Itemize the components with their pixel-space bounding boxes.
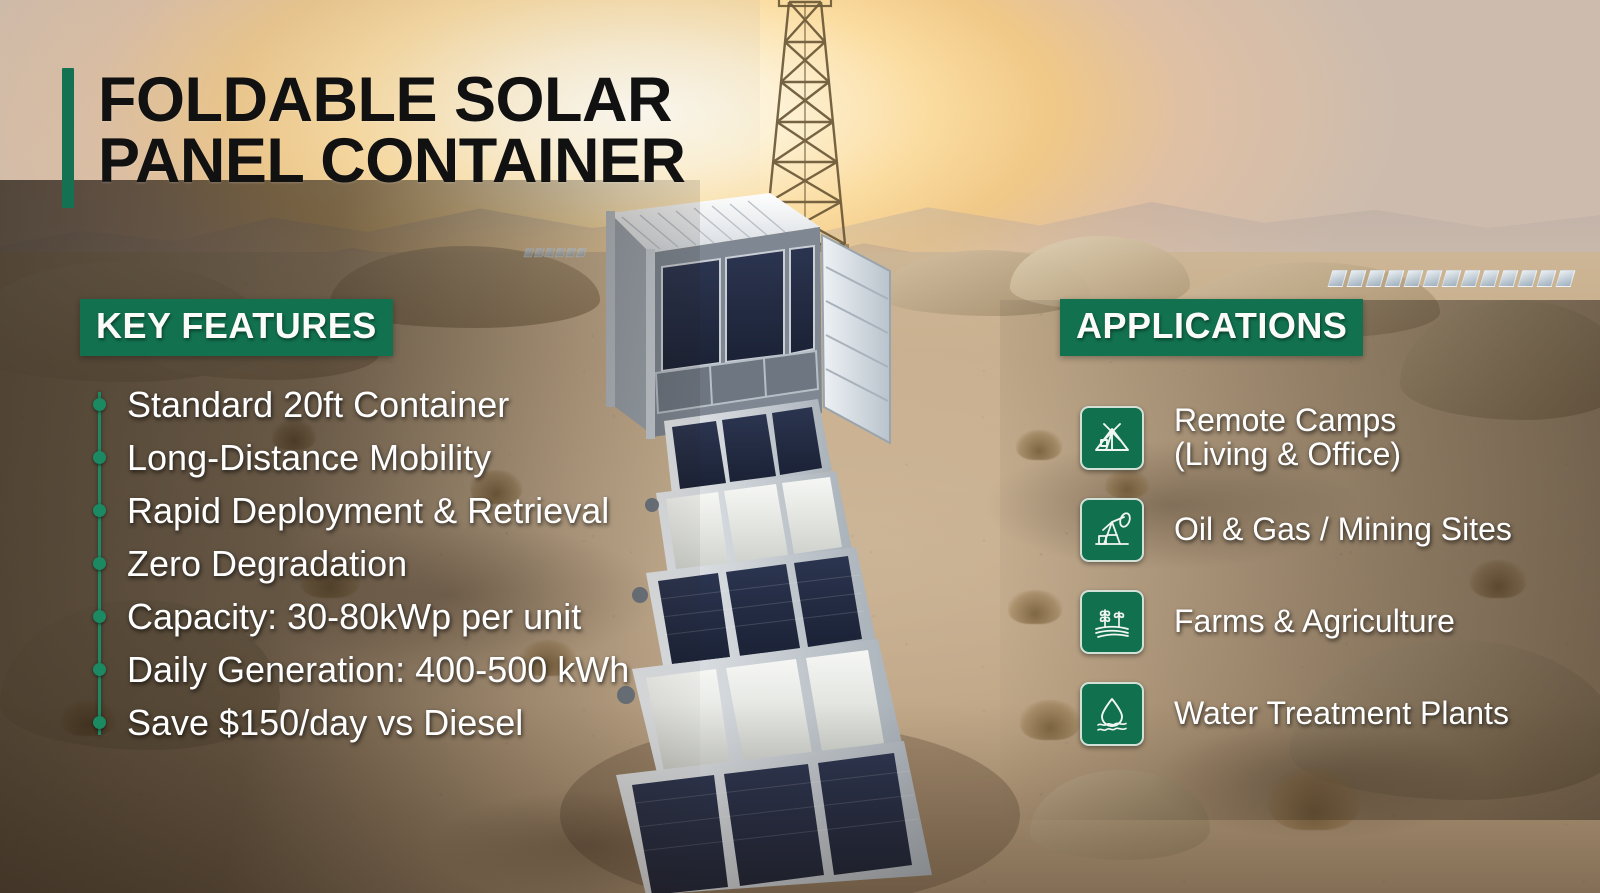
title-accent-bar [62,68,74,208]
application-label: Farms & Agriculture [1174,605,1455,639]
feature-label: Rapid Deployment & Retrieval [127,493,609,529]
feature-label: Long-Distance Mobility [127,440,491,476]
tent-icon [1080,406,1144,470]
bullet-dot-icon [93,716,106,729]
bullet-dot-icon [93,451,106,464]
feature-label: Daily Generation: 400-500 kWh [127,652,629,688]
oil-pumpjack-icon [1080,498,1144,562]
feature-label: Save $150/day vs Diesel [127,705,523,741]
content-layer: FOLDABLE SOLAR PANEL CONTAINER KEY FEATU… [0,0,1600,893]
applications-heading: APPLICATIONS [1060,299,1363,356]
bullet-dot-icon [93,398,106,411]
application-item: Remote Camps (Living & Office) [1080,392,1580,484]
application-label: Remote Camps (Living & Office) [1174,404,1401,472]
bullet-dot-icon [93,663,106,676]
feature-item: Long-Distance Mobility [92,431,632,484]
key-features-list: Standard 20ft Container Long-Distance Mo… [92,378,632,749]
application-item: Water Treatment Plants [1080,668,1580,760]
infographic-poster: FOLDABLE SOLAR PANEL CONTAINER KEY FEATU… [0,0,1600,893]
poster-title: FOLDABLE SOLAR PANEL CONTAINER [62,68,686,208]
application-item: Oil & Gas / Mining Sites [1080,484,1580,576]
title-line-1: FOLDABLE SOLAR [98,70,686,131]
title-text-block: FOLDABLE SOLAR PANEL CONTAINER [98,68,686,208]
applications-list: Remote Camps (Living & Office) Oil & Gas… [1080,392,1580,760]
bullet-dot-icon [93,504,106,517]
bullet-dot-icon [93,610,106,623]
application-label: Water Treatment Plants [1174,697,1509,731]
feature-item: Rapid Deployment & Retrieval [92,484,632,537]
crops-field-icon [1080,590,1144,654]
key-features-heading: KEY FEATURES [80,299,393,356]
feature-item: Zero Degradation [92,537,632,590]
feature-label: Zero Degradation [127,546,407,582]
water-drop-icon [1080,682,1144,746]
title-line-2: PANEL CONTAINER [98,131,686,192]
feature-item: Daily Generation: 400-500 kWh [92,643,632,696]
feature-label: Capacity: 30-80kWp per unit [127,599,581,635]
application-label: Oil & Gas / Mining Sites [1174,513,1512,547]
feature-item: Standard 20ft Container [92,378,632,431]
feature-label: Standard 20ft Container [127,387,509,423]
feature-item: Save $150/day vs Diesel [92,696,632,749]
feature-item: Capacity: 30-80kWp per unit [92,590,632,643]
application-item: Farms & Agriculture [1080,576,1580,668]
bullet-dot-icon [93,557,106,570]
